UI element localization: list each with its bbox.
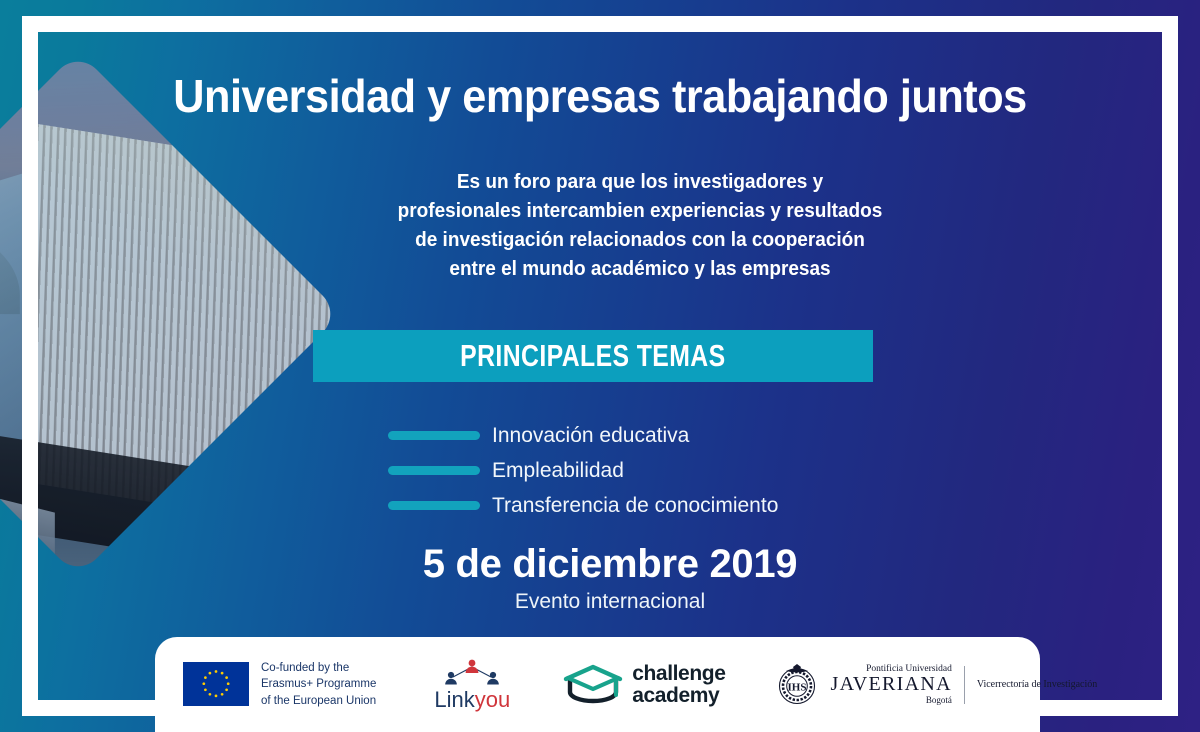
logo-divider (964, 666, 965, 704)
description-line-4: entre el mundo académico y las empresas (279, 255, 1001, 284)
eu-stars-icon (183, 662, 249, 706)
dash-bullet-icon (388, 501, 480, 510)
seal-monogram: IHS (788, 681, 807, 693)
dash-bullet-icon (388, 431, 480, 440)
javeriana-logo: IHS Pontificia Universidad JAVERIANA Bog… (773, 661, 1097, 709)
list-item: Empleabilidad (388, 453, 908, 488)
topic-label: Empleabilidad (492, 459, 624, 483)
linkyou-logo: Linkyou (434, 658, 510, 711)
event-poster: Universidad y empresas trabajando juntos… (0, 0, 1200, 732)
description-line-1: Es un foro para que los investigadores y (279, 168, 1001, 197)
erasmus-eu-logo: Co-funded by the Erasmus+ Programme of t… (183, 660, 376, 709)
list-item: Innovación educativa (388, 418, 908, 453)
event-date: 5 de diciembre 2019 (260, 542, 960, 587)
javeriana-wordmark: Pontificia Universidad JAVERIANA Bogotá (830, 664, 951, 706)
challenge-academy-wordmark: challenge academy (632, 663, 725, 706)
erasmus-line-2: Erasmus+ Programme (261, 676, 376, 692)
graduation-cap-icon (562, 662, 624, 708)
poster-content: Universidad y empresas trabajando juntos… (0, 0, 1200, 732)
linkyou-part-you: you (475, 687, 510, 712)
javeriana-line-main: JAVERIANA (830, 674, 951, 696)
javeriana-seal-icon: IHS (773, 661, 821, 709)
topic-label: Innovación educativa (492, 424, 689, 448)
topics-list: Innovación educativa Empleabilidad Trans… (388, 418, 908, 523)
challenge-academy-line-2: academy (632, 685, 725, 706)
page-title: Universidad y empresas trabajando juntos (72, 72, 1129, 120)
sponsor-footer-bar: Co-funded by the Erasmus+ Programme of t… (155, 637, 1040, 732)
javeriana-department: Vicerrectoría de Investigación (977, 679, 1097, 690)
description-line-2: profesionales intercambien experiencias … (279, 197, 1001, 226)
dash-bullet-icon (388, 466, 480, 475)
poster-description: Es un foro para que los investigadores y… (279, 168, 1001, 284)
people-network-icon (441, 658, 503, 688)
challenge-academy-line-1: challenge (632, 663, 725, 684)
topic-label: Transferencia de conocimiento (492, 494, 778, 518)
javeriana-line-city: Bogotá (830, 696, 951, 706)
erasmus-line-3: of the European Union (261, 693, 376, 709)
topics-banner-label: PRINCIPALES TEMAS (460, 338, 725, 374)
erasmus-text: Co-funded by the Erasmus+ Programme of t… (261, 660, 376, 709)
erasmus-line-1: Co-funded by the (261, 660, 376, 676)
challenge-academy-logo: challenge academy (562, 662, 725, 708)
description-line-3: de investigación relacionados con la coo… (279, 226, 1001, 255)
linkyou-wordmark: Linkyou (434, 689, 510, 711)
event-subtitle: Evento internacional (260, 590, 960, 614)
list-item: Transferencia de conocimiento (388, 488, 908, 523)
linkyou-part-link: Link (434, 687, 474, 712)
eu-flag-icon (183, 662, 249, 706)
topics-banner: PRINCIPALES TEMAS (313, 330, 873, 382)
